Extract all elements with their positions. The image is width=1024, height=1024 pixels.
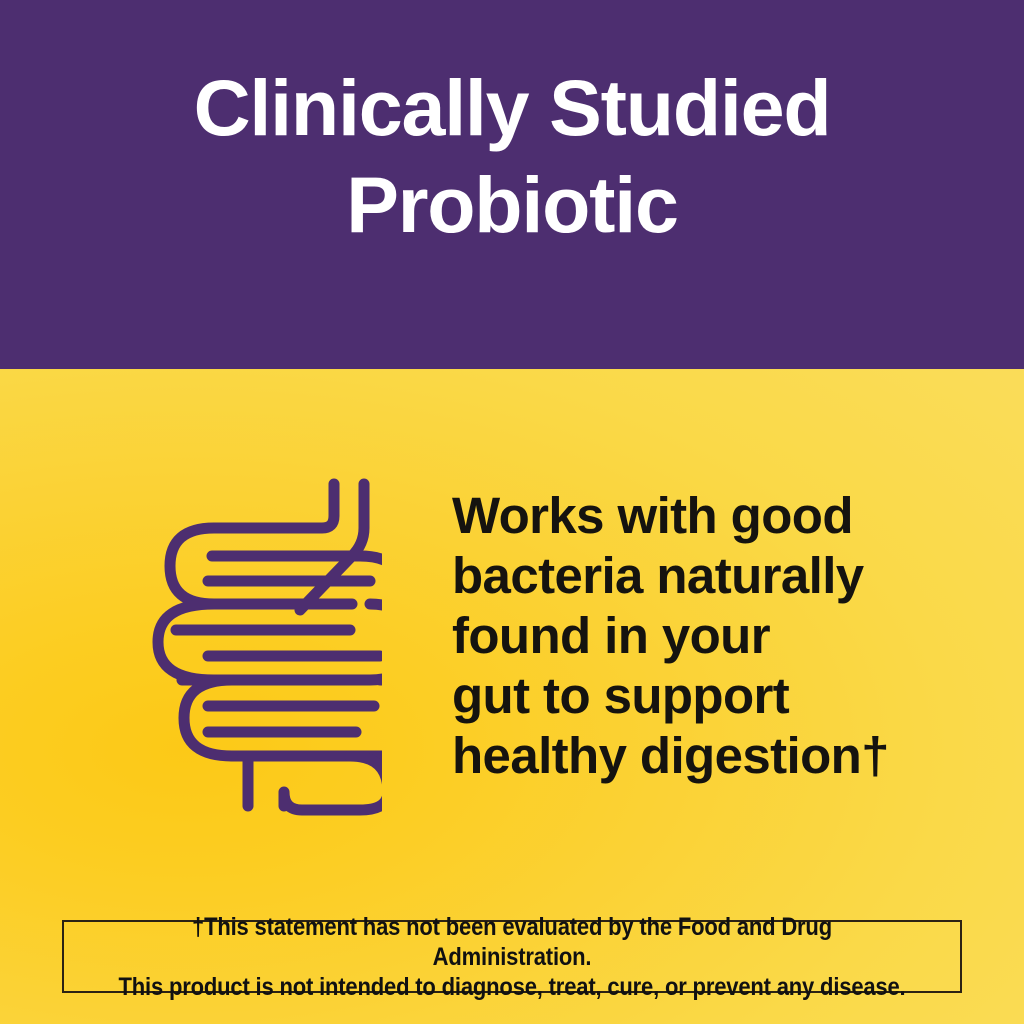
intestine-icon <box>112 470 382 820</box>
disclaimer-box: †This statement has not been evaluated b… <box>62 920 962 993</box>
page-title: Clinically Studied Probiotic <box>72 59 952 253</box>
product-feature-banner: Clinically Studied Probiotic <box>0 0 1024 1024</box>
header-band: Clinically Studied Probiotic <box>0 0 1024 369</box>
benefit-text: Works with good bacteria naturally found… <box>452 486 922 786</box>
disclaimer-text: †This statement has not been evaluated b… <box>118 912 906 1002</box>
